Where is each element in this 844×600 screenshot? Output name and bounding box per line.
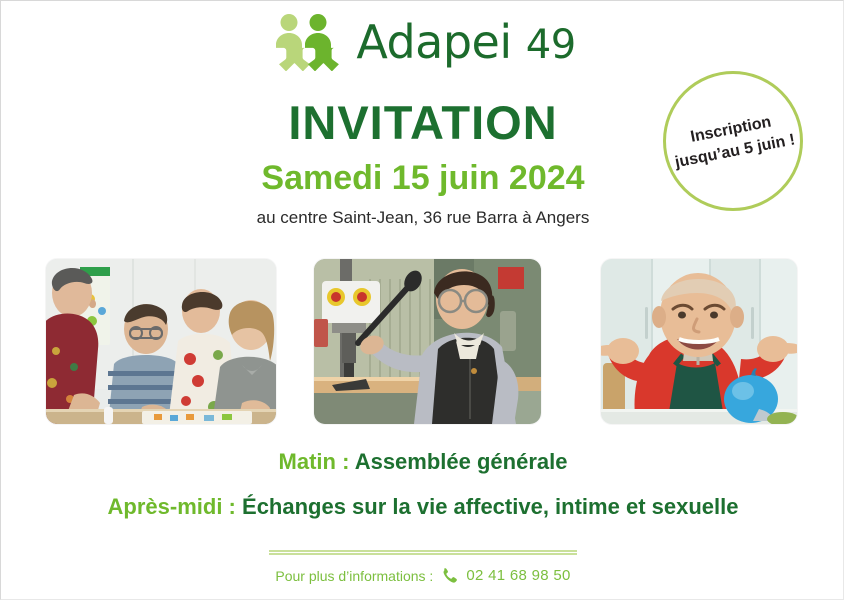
brand-number: 49 bbox=[526, 22, 576, 68]
photo-man-pointing bbox=[601, 259, 797, 424]
registration-deadline-badge: Inscription jusqu’au 5 juin ! bbox=[663, 71, 803, 211]
photo-strip bbox=[1, 259, 844, 424]
footer-contact: Pour plus d’informations : 02 41 68 98 5… bbox=[1, 567, 844, 584]
program-afternoon-label: Après-midi : bbox=[108, 494, 236, 519]
badge-text: Inscription jusqu’au 5 juin ! bbox=[665, 107, 801, 174]
brand-logo: Adapei 49 bbox=[1, 13, 844, 71]
program-afternoon: Après-midi : Échanges sur la vie affecti… bbox=[1, 496, 844, 518]
event-venue: au centre Saint-Jean, 36 rue Barra à Ang… bbox=[1, 209, 844, 226]
photo-woman-drill-press bbox=[314, 259, 541, 424]
footer-info-label: Pour plus d’informations : bbox=[275, 568, 433, 584]
program-afternoon-value: Échanges sur la vie affective, intime et… bbox=[242, 494, 738, 519]
brand-name-text: Adapei bbox=[356, 15, 511, 69]
phone-number: 02 41 68 98 50 bbox=[466, 567, 570, 584]
footer-divider bbox=[269, 550, 577, 555]
phone-icon bbox=[441, 567, 458, 584]
invitation-poster: Adapei 49 INVITATION Samedi 15 juin 2024… bbox=[0, 0, 844, 600]
program-morning-value: Assemblée générale bbox=[355, 449, 568, 474]
photo-group-board-game bbox=[46, 259, 276, 424]
program-morning-label: Matin : bbox=[279, 449, 350, 474]
brand-name: Adapei 49 bbox=[356, 19, 575, 65]
program-morning: Matin : Assemblée générale bbox=[1, 451, 844, 473]
two-people-logo-icon bbox=[270, 13, 342, 71]
